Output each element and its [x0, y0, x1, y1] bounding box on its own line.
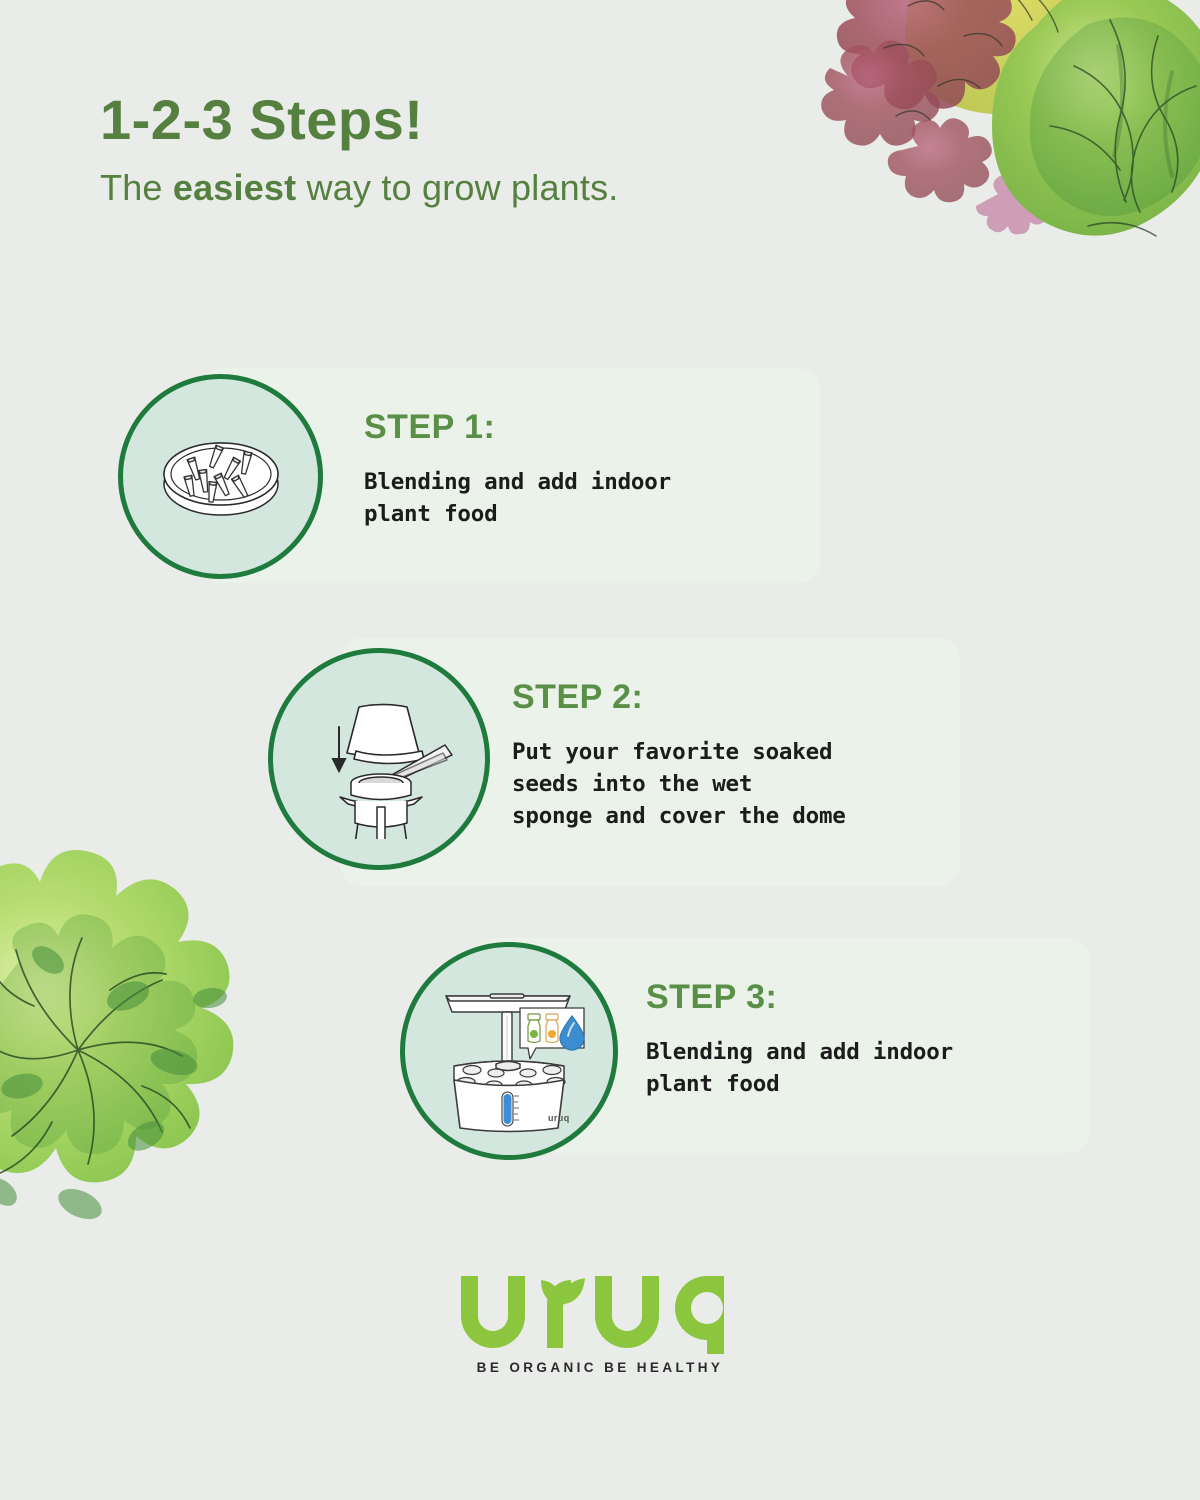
page-header: 1-2-3 Steps! The easiest way to grow pla… [100, 92, 619, 208]
subtitle-emphasis: easiest [173, 167, 297, 208]
step-1-body-line: Blending and add indoor [364, 467, 804, 499]
dome-pod-illustration [299, 679, 459, 839]
hydroponic-unit-icon: uruq [400, 942, 618, 1160]
step-3-heading: STEP 3: [646, 978, 1096, 1017]
step-2-body-line: Put your favorite soaked [512, 737, 964, 769]
brand-logo: BE ORGANIC BE HEALTHY [455, 1268, 745, 1375]
step-text-1: STEP 1: Blending and add indoor plant fo… [364, 408, 804, 531]
brand-tagline: BE ORGANIC BE HEALTHY [455, 1360, 745, 1375]
hydroponic-unit-illustration: uruq [424, 966, 594, 1136]
step-text-2: STEP 2: Put your favorite soaked seeds i… [512, 678, 964, 833]
step-2-heading: STEP 2: [512, 678, 964, 717]
page-subtitle: The easiest way to grow plants. [100, 168, 619, 208]
step-2-body: Put your favorite soaked seeds into the … [512, 737, 964, 833]
uruq-wordmark [455, 1268, 745, 1354]
step-1-body: Blending and add indoor plant food [364, 467, 804, 531]
seed-tray-illustration [146, 402, 296, 552]
step-text-3: STEP 3: Blending and add indoor plant fo… [646, 978, 1096, 1101]
step-2-body-line: sponge and cover the dome [512, 801, 964, 833]
step-1-body-line: plant food [364, 499, 804, 531]
svg-text:uruq: uruq [548, 1113, 570, 1123]
subtitle-tail: way to grow plants. [296, 167, 618, 208]
step-1-heading: STEP 1: [364, 408, 804, 447]
lettuce-watercolor-top-right [788, 0, 1200, 346]
page-title: 1-2-3 Steps! [100, 92, 619, 148]
step-3-body: Blending and add indoor plant food [646, 1037, 1096, 1101]
dome-tweezers-pod-icon [268, 648, 490, 870]
subtitle-lead: The [100, 167, 173, 208]
step-3-body-line: Blending and add indoor [646, 1037, 1096, 1069]
step-2-body-line: seeds into the wet [512, 769, 964, 801]
step-3-body-line: plant food [646, 1069, 1096, 1101]
lettuce-watercolor-bottom-left [0, 800, 340, 1420]
seed-tray-icon [118, 374, 323, 579]
